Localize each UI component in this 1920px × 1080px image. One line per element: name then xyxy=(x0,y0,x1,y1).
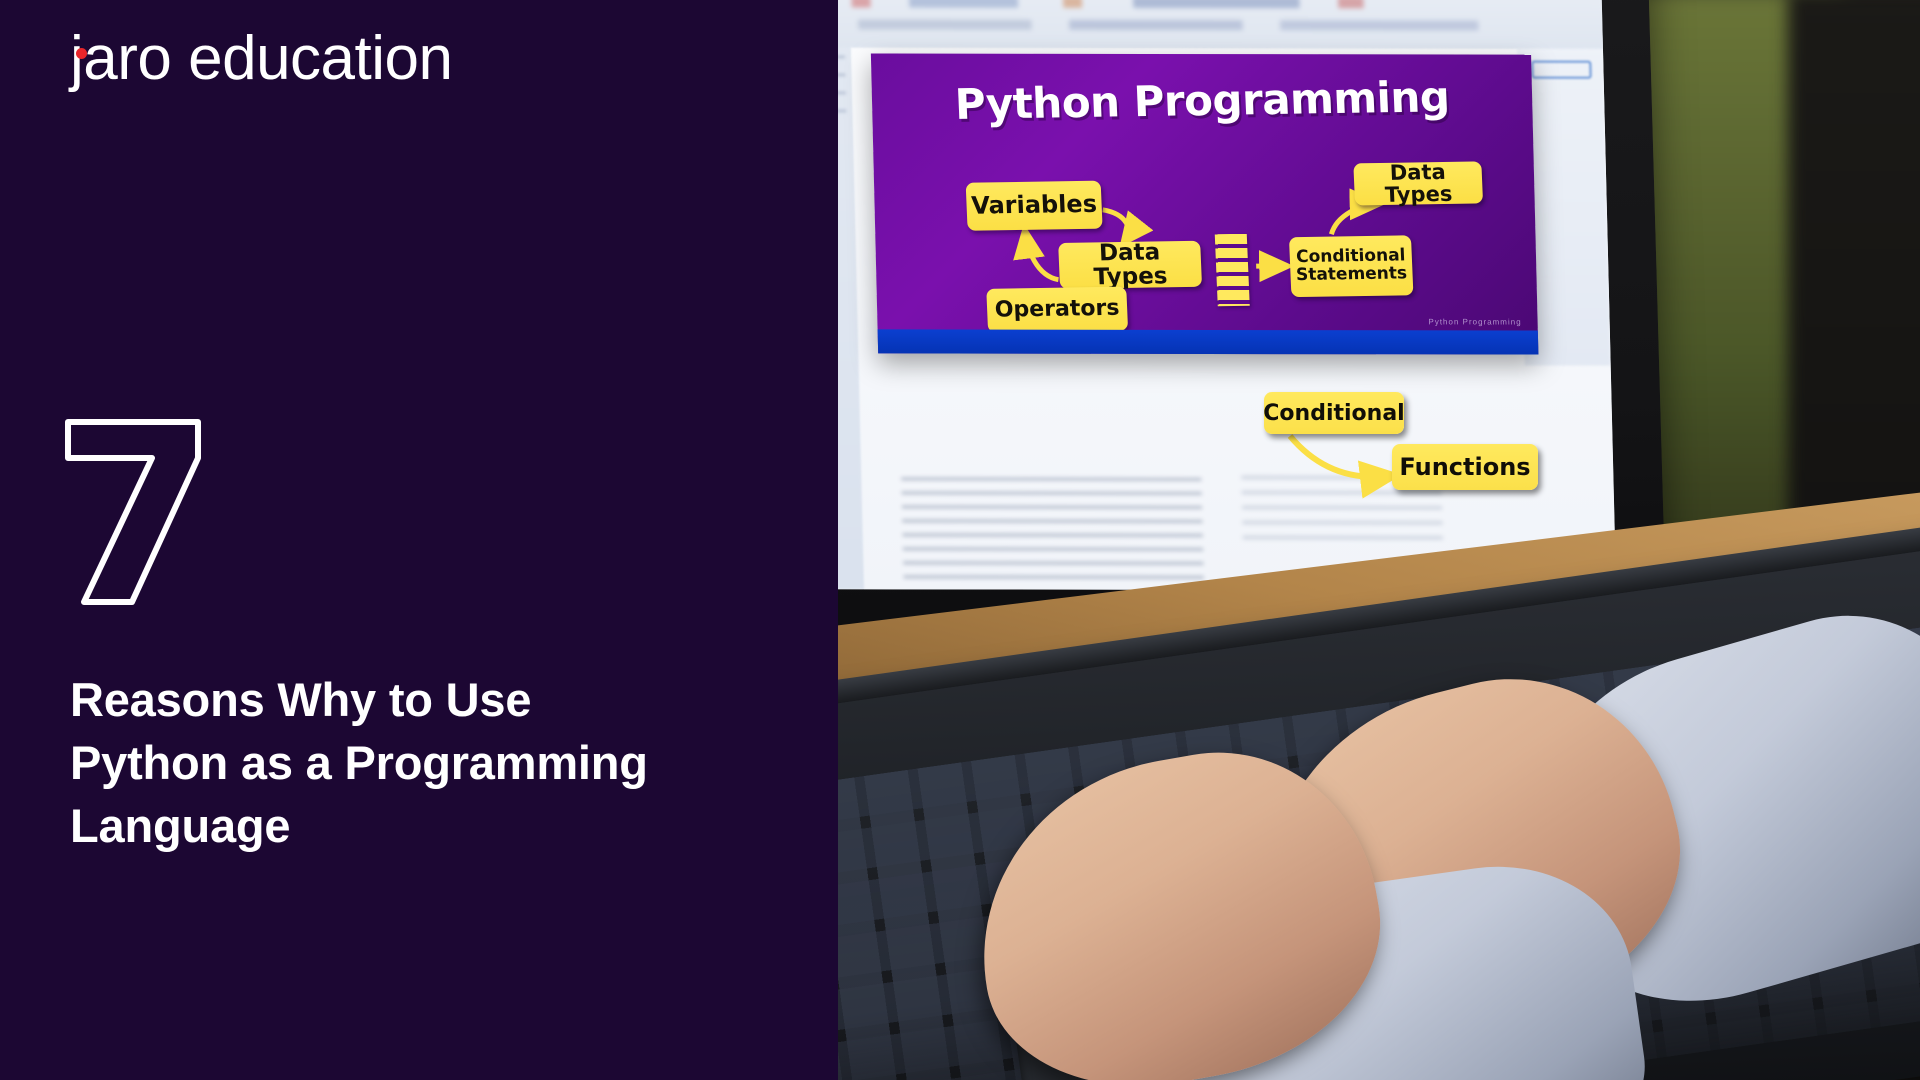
slide-box-operators: Operators xyxy=(986,287,1128,333)
headline-line-1: Reasons Why to Use xyxy=(70,668,810,731)
slide-box-data-types: Data Types xyxy=(1058,241,1202,289)
presentation-slide: Python Programming Variables Da xyxy=(871,53,1539,354)
hero-photo: PyCharm Tools View Edit Run Search Tags … xyxy=(838,0,1920,1080)
slide-box-variables: Variables xyxy=(966,181,1103,231)
headline-line-2: Python as a Programming xyxy=(70,731,810,794)
callout-badge-functions: Functions xyxy=(1392,444,1538,490)
jaro-education-logo: jaro education xyxy=(70,28,453,90)
slide-stack-icon xyxy=(1215,234,1250,306)
conditional-line-2: Statements xyxy=(1296,265,1408,285)
page-title: Reasons Why to Use Python as a Programmi… xyxy=(70,668,810,857)
browser-chrome: PyCharm Tools View Edit Run Search Tags … xyxy=(838,0,1603,49)
slide-footer-bar xyxy=(878,329,1539,354)
poster-canvas: jaro education Reasons Why to Use Python… xyxy=(0,0,1920,1080)
callout-badge-conditional: Conditional xyxy=(1264,392,1404,434)
toolbar-row-primary[interactable] xyxy=(851,0,1492,9)
left-content-panel: jaro education Reasons Why to Use Python… xyxy=(0,0,838,1080)
slide-box-conditional-statements: Conditional Statements xyxy=(1289,235,1413,297)
headline-line-3: Language xyxy=(70,794,810,857)
logo-accent-dot-icon xyxy=(76,48,87,59)
code-text-block xyxy=(901,477,1204,587)
slide-box-data-types-top: Data Types xyxy=(1353,161,1483,205)
slide-footer-note: Python Programming xyxy=(1428,317,1521,326)
toolbar-row-secondary[interactable] xyxy=(858,19,1478,30)
rail-button[interactable] xyxy=(1531,61,1591,79)
numeral-seven-outline xyxy=(60,412,210,612)
